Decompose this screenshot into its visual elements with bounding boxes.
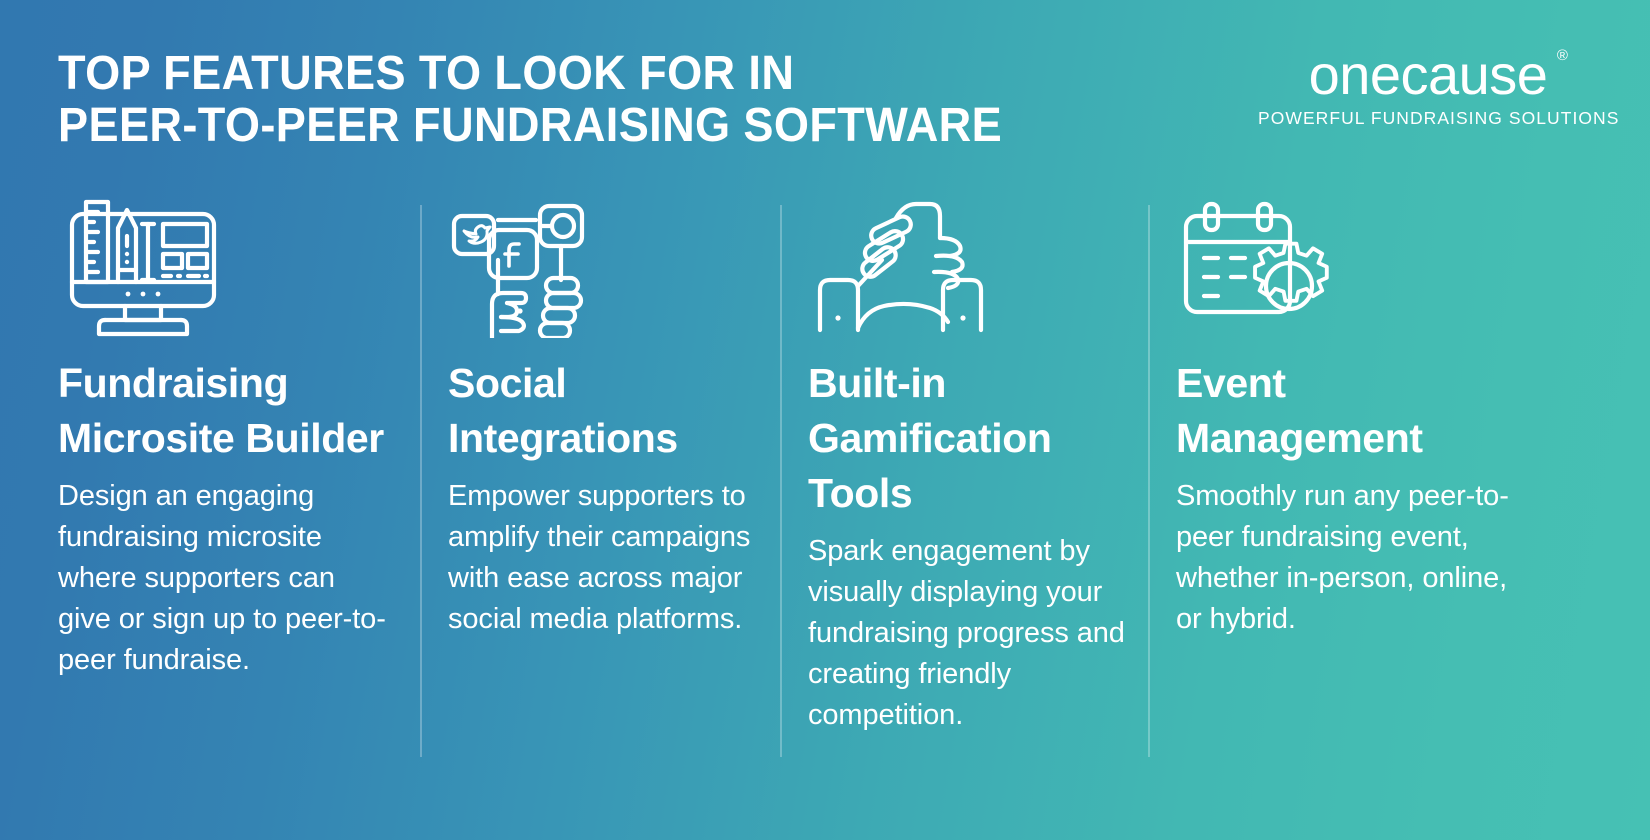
monitor-design-tools-icon xyxy=(58,198,390,340)
column-divider xyxy=(1148,205,1150,757)
header: TOP FEATURES TO LOOK FOR IN PEER-TO-PEER… xyxy=(0,0,1650,185)
feature-body: Smoothly run any peer-to-peer fundraisin… xyxy=(1176,476,1526,640)
logo-tagline: POWERFUL FUNDRAISING SOLUTIONS xyxy=(1258,108,1598,129)
feature-body: Spark engagement by visually displaying … xyxy=(808,531,1126,736)
feature-heading: Social Integrations xyxy=(448,356,758,466)
feature-column-gamification-tools: Built-in Gamification Tools Spark engage… xyxy=(780,198,1148,736)
clasped-hands-icon xyxy=(808,198,1126,340)
feature-heading: Event Management xyxy=(1176,356,1526,466)
hand-social-media-icons xyxy=(448,198,758,340)
feature-columns: Fundraising Microsite Builder Design an … xyxy=(0,198,1650,840)
column-divider xyxy=(420,205,422,757)
feature-column-microsite-builder: Fundraising Microsite Builder Design an … xyxy=(0,198,420,681)
calendar-body xyxy=(1186,216,1290,312)
registered-trademark-icon: ® xyxy=(1557,48,1568,63)
page-title-line-1: TOP FEATURES TO LOOK FOR IN xyxy=(58,48,1054,100)
page-title-line-2: PEER-TO-PEER FUNDRAISING SOFTWARE xyxy=(58,100,1054,152)
feature-heading: Fundraising Microsite Builder xyxy=(58,356,390,466)
page-title: TOP FEATURES TO LOOK FOR IN PEER-TO-PEER… xyxy=(58,48,1118,152)
onecause-logo: onecause® POWERFUL FUNDRAISING SOLUTIONS xyxy=(1258,46,1598,129)
feature-heading: Built-in Gamification Tools xyxy=(808,356,1126,521)
infographic-root: TOP FEATURES TO LOOK FOR IN PEER-TO-PEER… xyxy=(0,0,1650,840)
calendar-gear-icon xyxy=(1176,198,1526,340)
feature-body: Design an engaging fundraising microsite… xyxy=(58,476,390,681)
feature-column-social-integrations: Social Integrations Empower supporters t… xyxy=(420,198,780,640)
feature-body: Empower supporters to amplify their camp… xyxy=(448,476,758,640)
feature-column-event-management: Event Management Smoothly run any peer-t… xyxy=(1148,198,1548,640)
column-divider xyxy=(780,205,782,757)
logo-wordmark: onecause® xyxy=(1309,46,1548,104)
logo-wordmark-text: onecause xyxy=(1309,43,1548,106)
